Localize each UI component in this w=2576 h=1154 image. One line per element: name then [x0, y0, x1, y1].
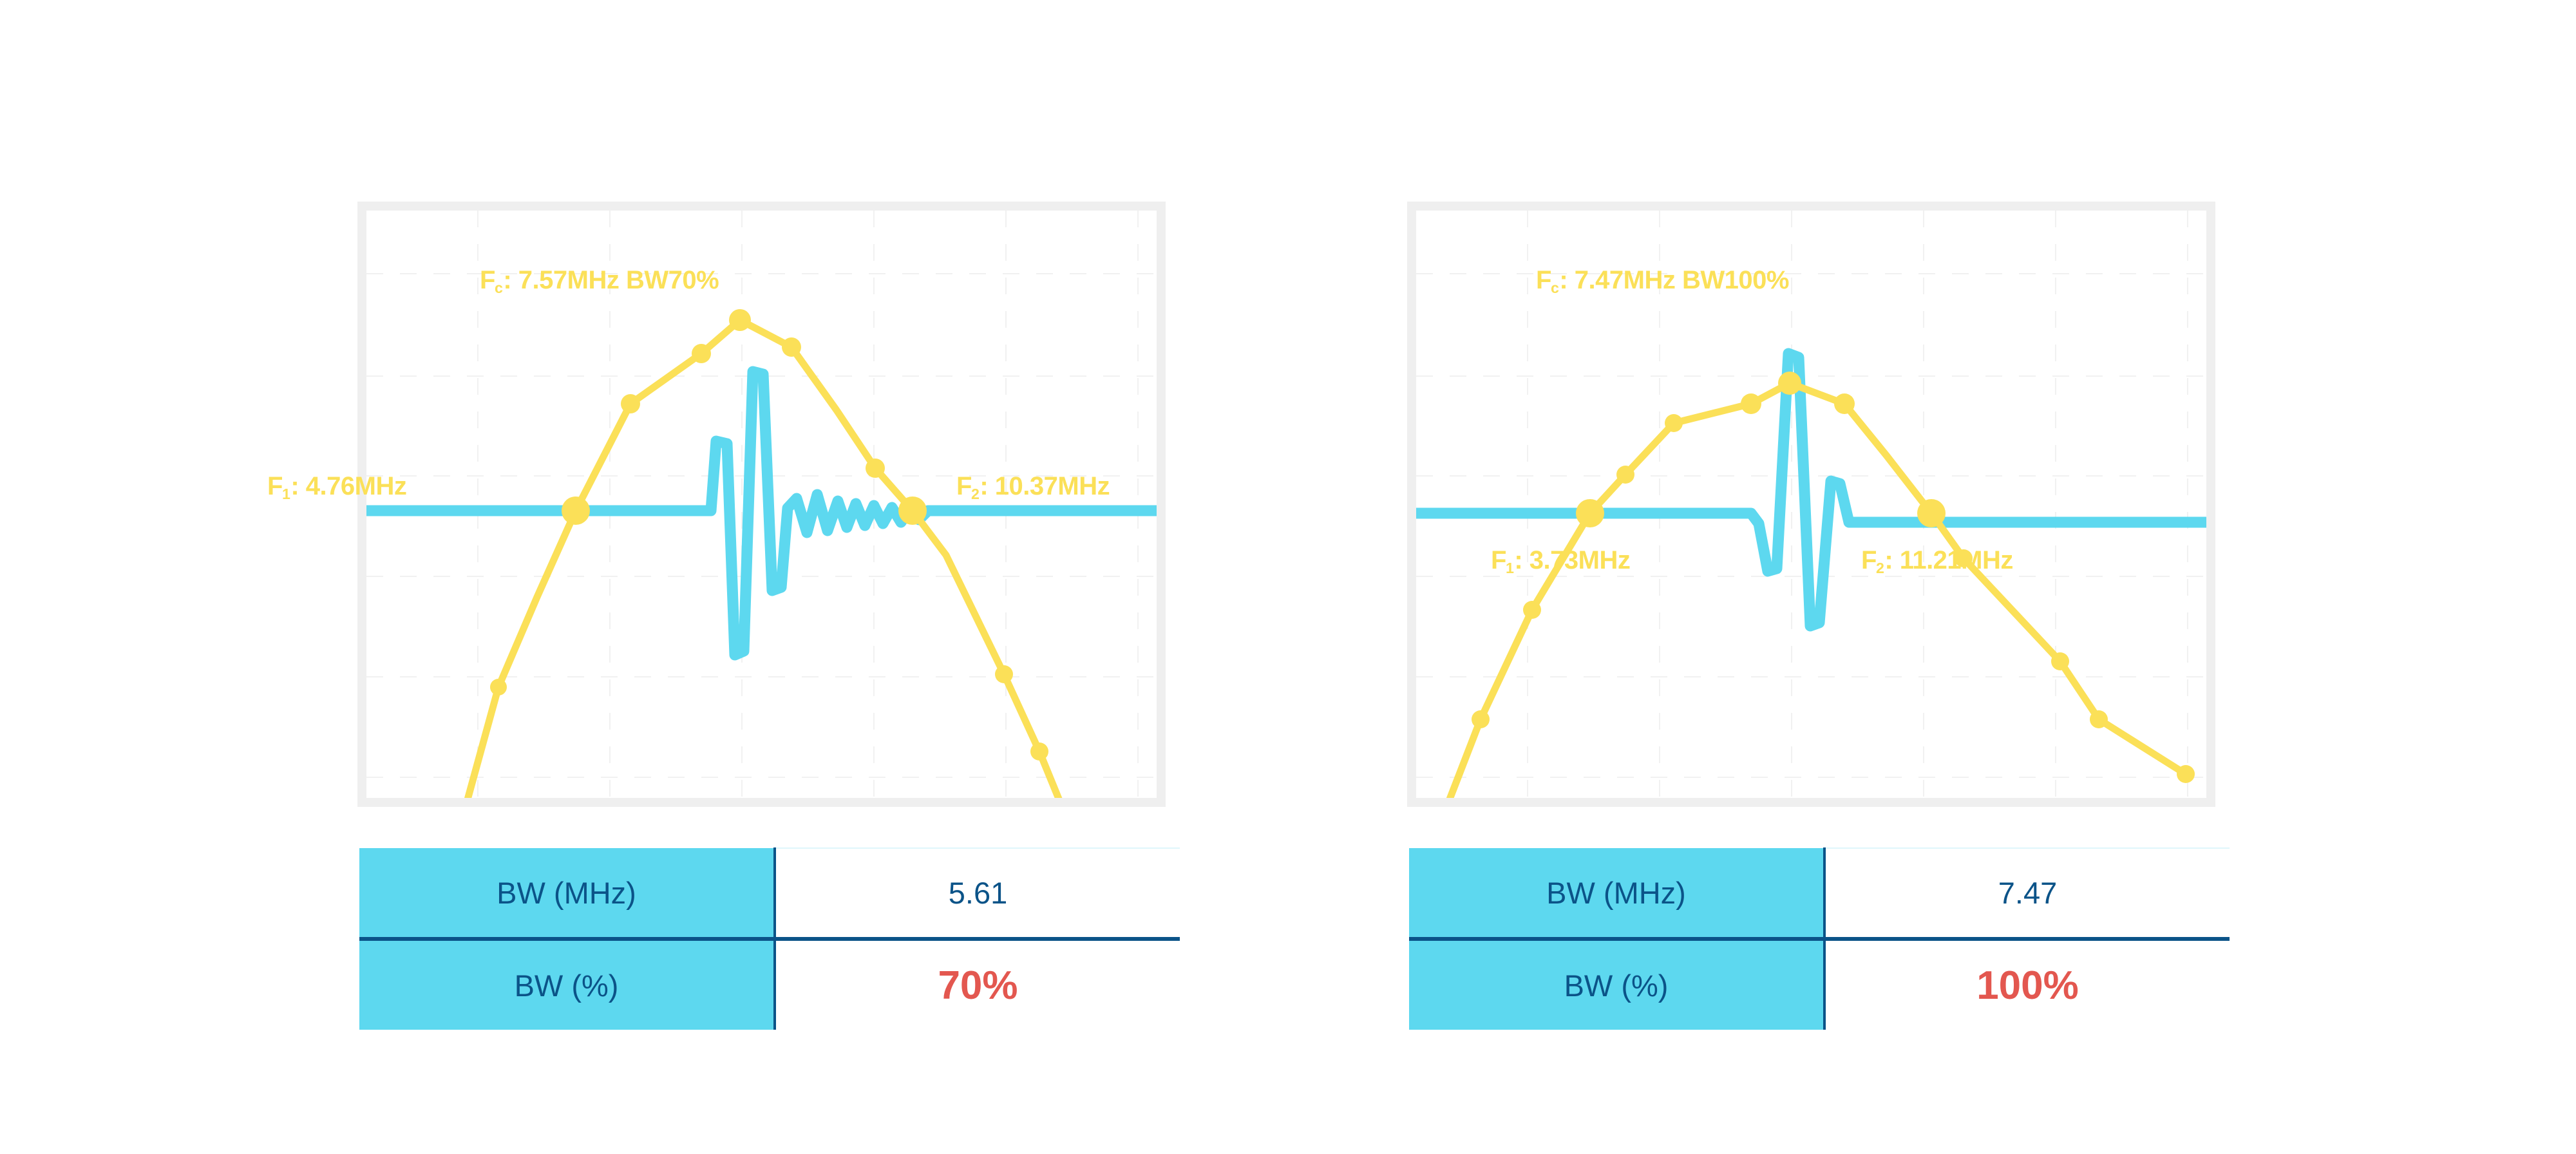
bw-table-left: BW (MHz) 5.61 BW (%) 70%: [359, 847, 1180, 1030]
annot-f2-subscript: 2: [971, 486, 979, 502]
annotation-fc-right: Fc: 7.47MHz BW100%: [1536, 266, 1789, 295]
table-row-bw-mhz-left: BW (MHz) 5.61: [359, 848, 1180, 939]
annot-fc-prefix: F: [1536, 266, 1551, 294]
annot-f2-text: : 11.21MHz: [1884, 546, 2013, 574]
chart-right: [1416, 211, 2206, 798]
annotation-f1-right: F1: 3.73MHz: [1491, 546, 1630, 575]
annot-fc-prefix: F: [480, 266, 495, 294]
bw-mhz-value-right: 7.47: [1824, 848, 2230, 939]
annot-f1-prefix: F: [267, 472, 283, 500]
panel-right: Fc: 7.47MHz BW100% F1: 3.73MHz F2: 11.21…: [1407, 202, 2215, 807]
bw-pct-label-right: BW (%): [1409, 939, 1824, 1030]
panel-left: Fc: 7.57MHz BW70% F1: 4.76MHz F2: 10.37M…: [357, 202, 1166, 807]
annot-fc-subscript: c: [495, 279, 502, 296]
annot-f1-subscript: 1: [1506, 560, 1513, 576]
annotation-f2-right: F2: 11.21MHz: [1861, 546, 2013, 575]
annot-f2-text: : 10.37MHz: [980, 472, 1110, 500]
plot-inner-right: [1416, 211, 2206, 798]
table-row-bw-pct-right: BW (%) 100%: [1409, 939, 2230, 1030]
annot-f2-prefix: F: [956, 472, 972, 500]
annot-f1-text: : 4.76MHz: [290, 472, 406, 500]
bw-mhz-label-left: BW (MHz): [359, 848, 775, 939]
table-row-bw-mhz-right: BW (MHz) 7.47: [1409, 848, 2230, 939]
grid-lines-right: [1416, 211, 2206, 798]
annot-f1-text: : 3.73MHz: [1514, 546, 1630, 574]
chart-left: [366, 211, 1157, 798]
plot-inner-left: [366, 211, 1157, 798]
pulse-waveform-left: [366, 372, 1157, 655]
annotation-f1-left: F1: 4.76MHz: [267, 472, 406, 501]
bw-pct-value-right: 100%: [1824, 939, 2230, 1030]
annot-fc-text: : 7.47MHz BW100%: [1559, 266, 1789, 294]
plot-frame-left: [357, 202, 1166, 807]
bw-mhz-value-left: 5.61: [775, 848, 1180, 939]
annot-f1-subscript: 1: [282, 486, 290, 502]
annot-f1-prefix: F: [1491, 546, 1506, 574]
table-row-bw-pct-left: BW (%) 70%: [359, 939, 1180, 1030]
annot-f2-subscript: 2: [1876, 560, 1884, 576]
annot-fc-text: : 7.57MHz BW70%: [503, 266, 719, 294]
plot-frame-right: [1407, 202, 2215, 807]
annot-f2-prefix: F: [1861, 546, 1877, 574]
grid-lines-left: [366, 211, 1157, 798]
annotation-fc-left: Fc: 7.57MHz BW70%: [480, 266, 719, 295]
annot-fc-subscript: c: [1551, 279, 1558, 296]
bw-table-right: BW (MHz) 7.47 BW (%) 100%: [1409, 847, 2230, 1030]
bandwidth-comparison: Fc: 7.57MHz BW70% F1: 4.76MHz F2: 10.37M…: [0, 0, 2576, 1154]
bw-pct-value-left: 70%: [775, 939, 1180, 1030]
bw-pct-label-left: BW (%): [359, 939, 775, 1030]
annotation-f2-left: F2: 10.37MHz: [956, 472, 1110, 501]
spectrum-markers-right: [1472, 372, 2195, 783]
bw-mhz-label-right: BW (MHz): [1409, 848, 1824, 939]
